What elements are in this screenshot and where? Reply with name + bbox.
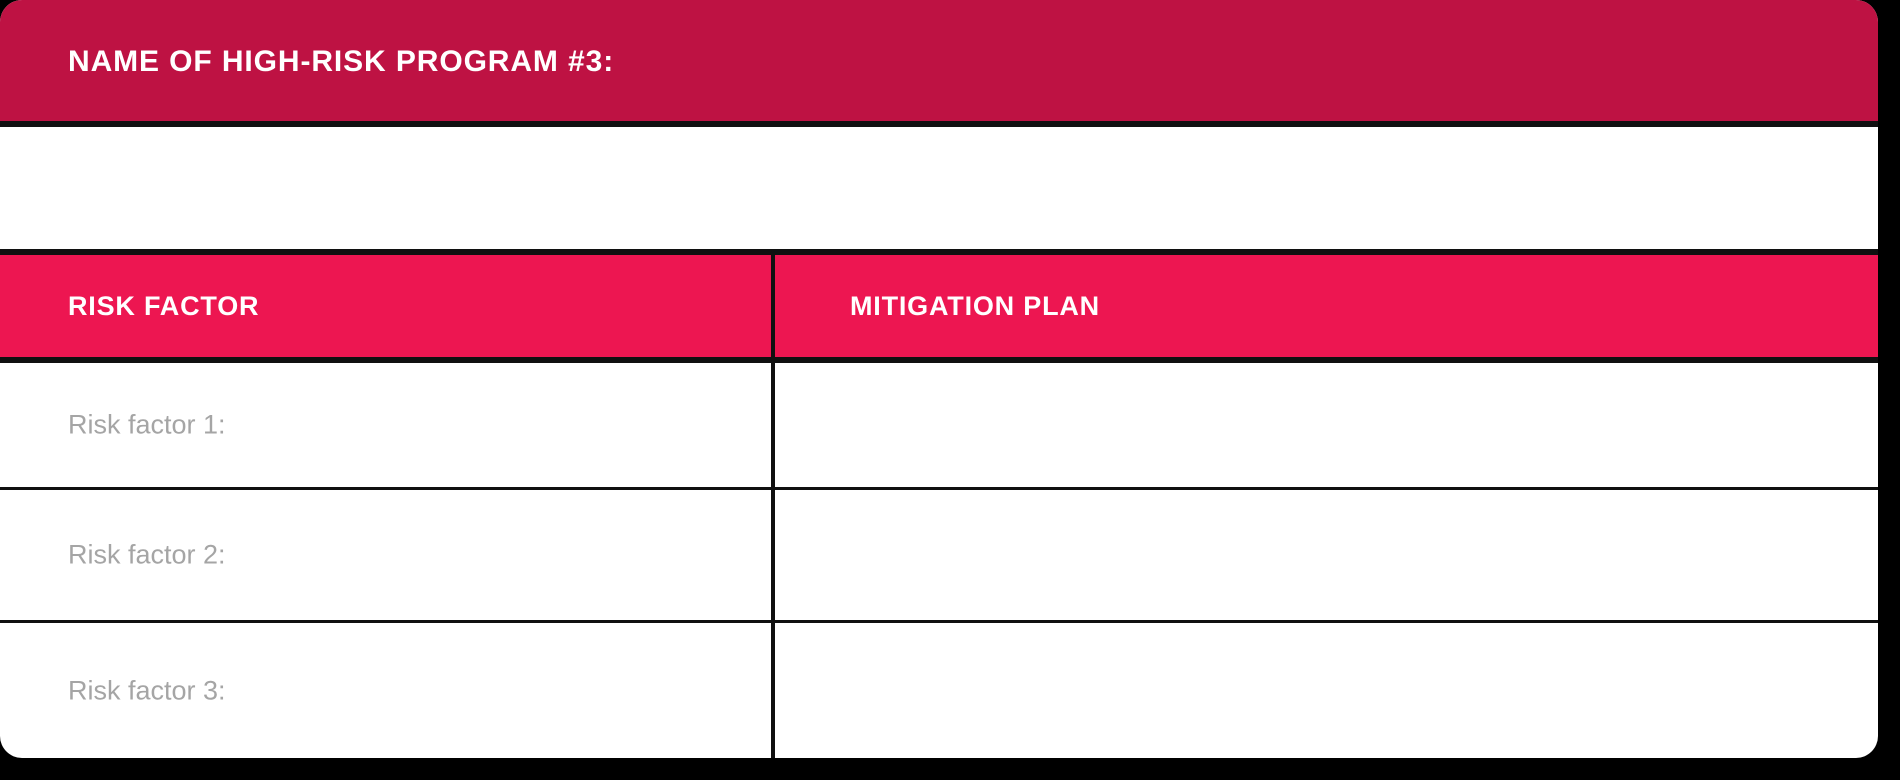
risk-factor-label: Risk factor 3: — [68, 675, 226, 706]
risk-factor-label: Risk factor 1: — [68, 410, 226, 441]
table-header-row: RISK FACTOR MITIGATION PLAN — [0, 255, 1878, 363]
column-header-mitigation-plan: MITIGATION PLAN — [850, 255, 1100, 357]
column-header-risk-factor: RISK FACTOR — [68, 255, 259, 357]
risk-factor-label: Risk factor 2: — [68, 540, 226, 571]
program-title-label: NAME OF HIGH-RISK PROGRAM #3: — [68, 44, 614, 80]
program-name-input[interactable] — [0, 127, 1878, 255]
mitigation-plan-input[interactable] — [775, 363, 1878, 487]
page-canvas: NAME OF HIGH-RISK PROGRAM #3: RISK FACTO… — [0, 0, 1900, 780]
mitigation-plan-input[interactable] — [775, 490, 1878, 620]
mitigation-plan-input[interactable] — [775, 623, 1878, 758]
table-row: Risk factor 2: — [0, 490, 1878, 623]
table-row: Risk factor 1: — [0, 363, 1878, 490]
program-title-band: NAME OF HIGH-RISK PROGRAM #3: — [0, 0, 1878, 127]
column-divider — [771, 255, 775, 758]
high-risk-program-card: NAME OF HIGH-RISK PROGRAM #3: RISK FACTO… — [0, 0, 1878, 758]
table-row: Risk factor 3: — [0, 623, 1878, 758]
risk-mitigation-table: RISK FACTOR MITIGATION PLAN Risk factor … — [0, 255, 1878, 758]
